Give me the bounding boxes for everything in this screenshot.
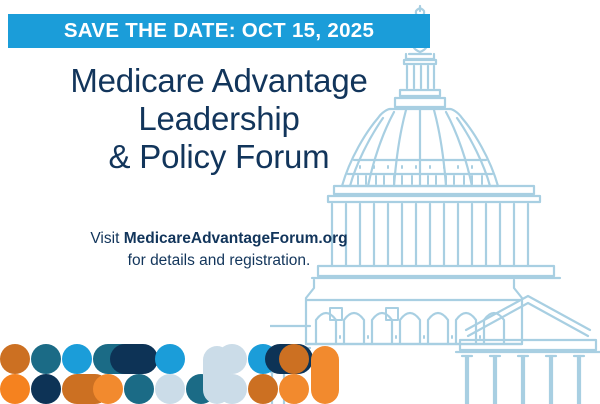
dot	[155, 374, 185, 404]
page-title: Medicare Advantage Leadership & Policy F…	[8, 62, 430, 176]
dot	[248, 344, 278, 374]
dot	[0, 374, 30, 404]
dot	[248, 374, 278, 404]
headline-line-1: Medicare Advantage	[8, 62, 430, 100]
dot-pill-vertical	[311, 346, 339, 404]
dot-pill	[265, 344, 313, 374]
visit-url-line: Visit MedicareAdvantageForum.org	[8, 228, 430, 250]
dot	[279, 374, 309, 404]
capitol-rear-colonnade	[270, 326, 310, 330]
forum-website-link[interactable]: MedicareAdvantageForum.org	[124, 230, 348, 247]
dot-row-bottom	[0, 374, 309, 404]
save-the-date-poster: SAVE THE DATE: OCT 15, 2025 Medicare Adv…	[0, 0, 600, 404]
dot	[217, 344, 247, 374]
save-the-date-label: SAVE THE DATE: OCT 15, 2025	[64, 19, 374, 43]
dot	[279, 344, 309, 374]
registration-note: for details and registration.	[8, 250, 430, 272]
dot-pill	[62, 374, 110, 404]
dot	[93, 374, 123, 404]
visit-details: Visit MedicareAdvantageForum.org for det…	[8, 228, 430, 272]
dot-pill-vertical	[203, 346, 231, 404]
capitol-arcade-block	[306, 280, 522, 344]
headline-line-2: Leadership	[8, 100, 430, 138]
headline-line-3: & Policy Forum	[8, 138, 430, 176]
dot-pill	[93, 344, 141, 374]
dot	[124, 374, 154, 404]
dot	[217, 374, 247, 404]
capitol-arcade-windows	[330, 308, 398, 320]
dot	[62, 344, 92, 374]
capitol-drum-cornice	[328, 186, 540, 202]
decorative-dot-pattern	[0, 344, 340, 404]
capitol-left-wing	[270, 348, 310, 404]
dot	[0, 344, 30, 374]
dot	[31, 374, 61, 404]
dot	[186, 374, 216, 404]
dot-pill	[110, 344, 158, 374]
visit-prefix-label: Visit	[90, 230, 123, 247]
dot	[31, 344, 61, 374]
dot	[155, 344, 185, 374]
save-the-date-banner: SAVE THE DATE: OCT 15, 2025	[8, 14, 430, 48]
us-capitol-line-art	[270, 0, 600, 404]
dot-row-top	[0, 344, 313, 374]
capitol-right-portico	[456, 296, 600, 404]
dot-tall-pills	[203, 346, 339, 404]
